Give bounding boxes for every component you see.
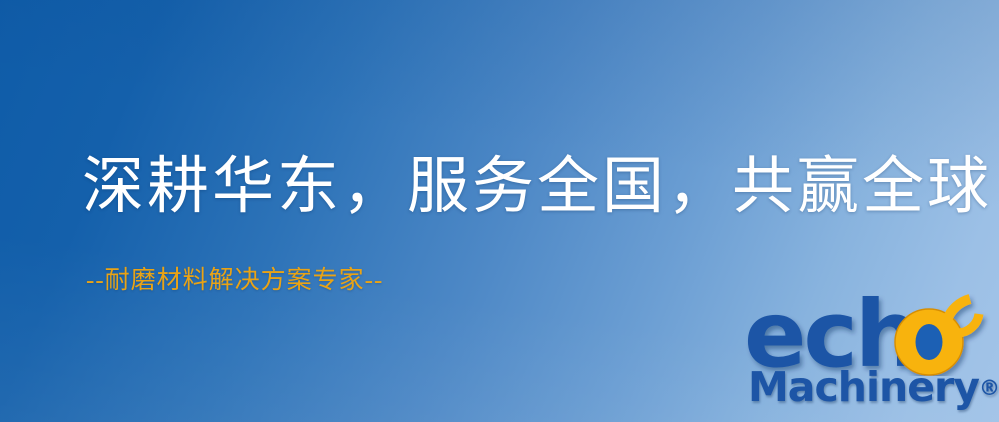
promo-banner: 深耕华东，服务全国，共赢全球 --耐磨材料解决方案专家-- ech: [0, 0, 999, 422]
logo-subword-text: Machinery: [748, 363, 979, 411]
registered-trademark-mark: ®: [979, 376, 999, 400]
company-logo: ech Machinery®: [744, 294, 994, 420]
banner-subtitle: --耐磨材料解决方案专家--: [86, 266, 383, 296]
logo-subword-machinery: Machinery®: [748, 364, 999, 411]
banner-headline: 深耕华东，服务全国，共赢全球: [82, 150, 942, 224]
